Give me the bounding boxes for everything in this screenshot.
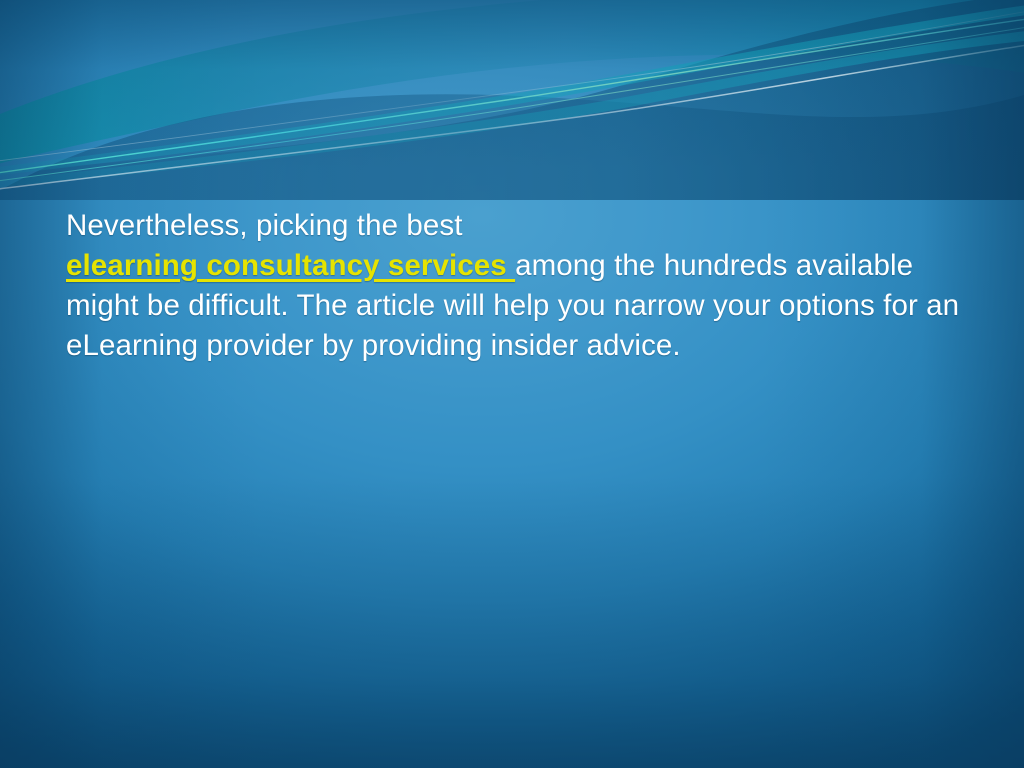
slide-canvas: Nevertheless, picking the best elearning…	[0, 0, 1024, 768]
elearning-consultancy-services-link[interactable]: elearning consultancy services	[66, 249, 515, 282]
paragraph-lead-text: Nevertheless, picking the best	[66, 209, 463, 242]
slide-body-paragraph: Nevertheless, picking the best elearning…	[66, 206, 962, 366]
background-side-shading	[0, 0, 1024, 768]
